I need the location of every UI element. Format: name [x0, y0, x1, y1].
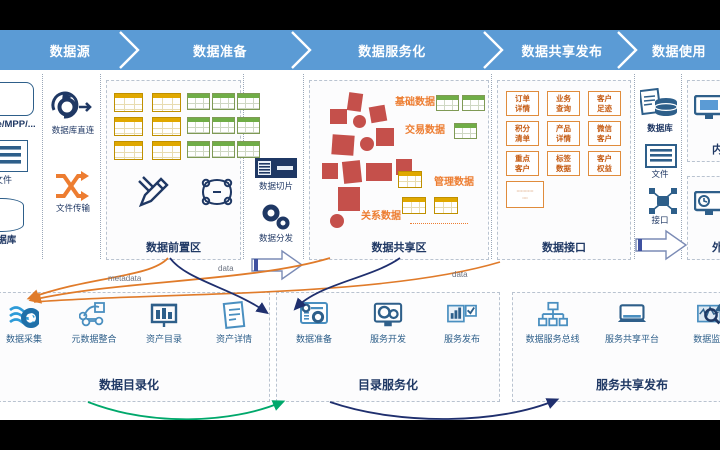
- staging-table: [212, 117, 235, 134]
- capability-asset-detail[interactable]: 资产详情: [203, 301, 265, 345]
- box-line-1: 标签: [556, 154, 571, 163]
- capability-label: 资产目录: [146, 332, 182, 345]
- source-label-0: ...base/MPP/...: [0, 120, 42, 130]
- sharing-table: [402, 197, 426, 214]
- box-line-2: 客户: [515, 164, 530, 173]
- column-divider-2: [100, 74, 101, 259]
- box-line-1: 重点: [515, 154, 530, 163]
- box-line-1: 业务: [556, 94, 571, 103]
- bottom-card-catalog: 数据采集 元数据整合: [0, 292, 270, 402]
- column-divider-5: [491, 74, 492, 259]
- delivery-label-1: 文件: [637, 170, 683, 179]
- data-slice-icon: [255, 158, 297, 183]
- share-card-title: 服务共享发布: [513, 376, 720, 393]
- box-line-1: 微信: [597, 124, 612, 133]
- capability-data-monitor[interactable]: 数据监控: [676, 301, 720, 345]
- sharing-shape: [376, 128, 394, 146]
- delivery-label-2: 接口: [637, 216, 683, 225]
- staging-region: 数据前置区: [106, 80, 241, 260]
- interface-box-1[interactable]: 业务 查询: [547, 91, 580, 116]
- box-line-2: 数据: [556, 164, 571, 173]
- dashboard-icon: [694, 191, 720, 222]
- sharing-table: [398, 171, 422, 188]
- bottom-card-service: 数据准备 服务开发: [276, 292, 500, 402]
- interface-box-0[interactable]: 订单 详情: [506, 91, 539, 116]
- capability-service-publish[interactable]: 服务发布: [431, 301, 493, 345]
- sharing-shape: [330, 214, 344, 228]
- sharing-table: [454, 123, 477, 139]
- service-bus-icon: [538, 301, 568, 329]
- box-line-2: 详情: [515, 104, 530, 113]
- box-line-2: 详情: [556, 134, 571, 143]
- sharing-table: [434, 197, 458, 214]
- stage-1[interactable]: 数据准备: [140, 30, 300, 70]
- stage-4[interactable]: 数据使用: [638, 30, 720, 70]
- box-line-2: 客户: [597, 134, 612, 143]
- capability-label: 服务共享平台: [605, 332, 659, 345]
- source-label-2: 数据库: [0, 236, 30, 246]
- interface-box-8[interactable]: 客户 权益: [588, 151, 621, 176]
- monitor-icon: [694, 95, 720, 126]
- box-line-1: 产品: [556, 124, 571, 133]
- transfer-block-arrow-right-icon: [250, 248, 304, 287]
- sharing-title: 数据共享区: [310, 239, 488, 255]
- sharing-label-0: 基础数据: [388, 97, 442, 108]
- wire-label-metadata: metadata: [108, 274, 141, 283]
- transfer-label-0: 数据切片: [246, 182, 306, 191]
- column-divider-4: [303, 74, 304, 259]
- catalog-item-row: 数据采集 元数据整合: [0, 301, 269, 345]
- interface-box-placeholder[interactable]: •••••••••••• ••••: [506, 181, 544, 208]
- delivery-label-0: 数据库: [637, 124, 683, 133]
- interface-box-2[interactable]: 客户 足迹: [588, 91, 621, 116]
- stage-label: 数据准备: [193, 41, 247, 60]
- delivery-block-arrow-right-icon: [634, 228, 688, 267]
- bottom-card-share: 数据服务总线 服务共享平台: [512, 292, 720, 402]
- ingest-label-0: 数据库直连: [44, 126, 102, 135]
- interface-region: 订单 详情 业务 查询 客户 足迹 积分 清单 产品 详情 微信 客户 重点 客…: [497, 80, 631, 260]
- sharing-label-3: 关系数据: [354, 211, 408, 222]
- ingest-label-1: 文件传输: [44, 204, 102, 213]
- sharing-label-2: 管理数据: [426, 177, 482, 188]
- capability-label: 服务发布: [444, 332, 480, 345]
- box-line-1: 客户: [597, 154, 612, 163]
- metadata-graph-icon: [79, 301, 109, 329]
- sharing-shape: [338, 187, 360, 211]
- wire-label-data-left: data: [218, 264, 234, 273]
- transfer-label-1: 数据分发: [246, 234, 306, 243]
- sharing-dotted-rule: [410, 223, 468, 224]
- asset-detail-icon: [219, 301, 249, 329]
- capability-label: 数据监控: [693, 332, 720, 345]
- capability-label: 数据采集: [6, 332, 42, 345]
- data-collect-gear-icon: [9, 301, 39, 329]
- placeholder-line-2: ••••: [522, 195, 528, 201]
- consumer-title-external: 外部: [688, 239, 720, 255]
- diagram-canvas: 数据源 数据准备 数据服务化 数据共享发布 数据使用: [0, 30, 720, 420]
- box-line-1: 客户: [597, 94, 612, 103]
- capability-share-platform[interactable]: 服务共享平台: [597, 301, 667, 345]
- staging-table: [187, 141, 210, 158]
- capability-data-collect[interactable]: 数据采集: [0, 301, 55, 345]
- sharing-shape: [369, 105, 388, 124]
- gear-arrow-icon: [48, 88, 94, 127]
- column-divider-1: [42, 74, 43, 259]
- nodes-network-icon: [199, 176, 235, 213]
- staging-table: [187, 117, 210, 134]
- staging-table: [237, 117, 260, 134]
- interface-box-3[interactable]: 积分 清单: [506, 121, 539, 146]
- capability-metadata-merge[interactable]: 元数据整合: [63, 301, 125, 345]
- stage-label: 数据服务化: [358, 41, 426, 60]
- box-line-1: 订单: [515, 94, 530, 103]
- consumer-title-internal: 内部: [688, 141, 720, 157]
- sharing-shape: [342, 160, 362, 184]
- consumer-region-internal: 内部: [687, 80, 720, 162]
- staging-table: [114, 141, 143, 160]
- capability-service-bus[interactable]: 数据服务总线: [518, 301, 588, 345]
- staging-table: [114, 93, 143, 112]
- source-rounded-rect-icon: [0, 82, 34, 116]
- monitor-search-icon: [696, 301, 720, 329]
- interface-box-5[interactable]: 微信 客户: [588, 121, 621, 146]
- staging-table: [152, 93, 181, 112]
- service-item-row: 数据准备 服务开发: [277, 301, 499, 345]
- sharing-shape: [360, 137, 374, 151]
- staging-title: 数据前置区: [107, 239, 240, 255]
- box-line-2: 权益: [597, 164, 612, 173]
- service-publish-icon: [447, 301, 477, 329]
- box-line-2: 足迹: [597, 104, 612, 113]
- catalog-card-title: 数据目录化: [0, 376, 269, 393]
- pencil-ruler-icon: [135, 173, 173, 216]
- staging-table: [212, 141, 235, 158]
- box-line-2: 清单: [515, 134, 530, 143]
- stage-label: 数据使用: [652, 41, 706, 60]
- capability-label: 数据准备: [296, 332, 332, 345]
- service-dev-icon: [373, 301, 403, 329]
- sharing-table: [462, 95, 485, 111]
- box-line-1: 积分: [515, 124, 530, 133]
- sharing-shape: [322, 163, 338, 179]
- capability-label: 服务开发: [370, 332, 406, 345]
- sharing-shape: [330, 109, 347, 124]
- staging-table: [187, 93, 210, 110]
- stage-3[interactable]: 数据共享发布: [504, 30, 620, 70]
- staging-table: [114, 117, 143, 136]
- sharing-region: 基础数据 交易数据 管理数据 关系数据 数据共享区: [309, 80, 489, 260]
- capability-label: 元数据整合: [71, 332, 116, 345]
- asset-catalog-icon: [149, 301, 179, 329]
- staging-table: [212, 93, 235, 110]
- capability-asset-catalog[interactable]: 资产目录: [133, 301, 195, 345]
- service-card-title: 目录服务化: [277, 376, 499, 393]
- capability-label: 资产详情: [216, 332, 252, 345]
- share-item-row: 数据服务总线 服务共享平台: [513, 301, 720, 345]
- process-banner: 数据源 数据准备 数据服务化 数据共享发布 数据使用: [0, 30, 720, 70]
- sharing-shape: [347, 92, 363, 112]
- laptop-icon: [617, 301, 647, 329]
- interface-title: 数据接口: [498, 239, 630, 255]
- stage-2[interactable]: 数据服务化: [312, 30, 472, 70]
- wire-label-data-right: data: [452, 270, 468, 279]
- source-database-cylinder-icon: [0, 198, 24, 232]
- capability-data-prep[interactable]: 数据准备: [283, 301, 345, 345]
- box-line-2: 查询: [556, 104, 571, 113]
- screenshot-root: 数据源 数据准备 数据服务化 数据共享发布 数据使用: [0, 0, 720, 450]
- interface-box-6[interactable]: 重点 客户: [506, 151, 539, 176]
- staging-table: [237, 141, 260, 158]
- sharing-shape: [331, 134, 354, 155]
- capability-service-dev[interactable]: 服务开发: [357, 301, 419, 345]
- sharing-shape: [366, 163, 392, 181]
- staging-table: [152, 141, 181, 160]
- sharing-table: [436, 95, 459, 111]
- gears-icon: [258, 202, 294, 237]
- source-label-1: 文件: [0, 176, 28, 186]
- consumer-region-external: 外部: [687, 176, 720, 260]
- source-file-lines-icon: [0, 140, 28, 172]
- sharing-label-1: 交易数据: [398, 125, 452, 136]
- staging-table: [152, 117, 181, 136]
- stage-label: 数据共享发布: [521, 41, 602, 60]
- sharing-shape: [353, 115, 366, 128]
- db-docs-icon: [640, 88, 680, 127]
- staging-table: [237, 93, 260, 110]
- interface-box-7[interactable]: 标签 数据: [547, 151, 580, 176]
- data-prep-icon: [299, 301, 329, 329]
- capability-label: 数据服务总线: [526, 332, 580, 345]
- stage-label: 数据源: [50, 41, 91, 60]
- interface-box-4[interactable]: 产品 详情: [547, 121, 580, 146]
- shuffle-arrows-icon: [52, 170, 90, 207]
